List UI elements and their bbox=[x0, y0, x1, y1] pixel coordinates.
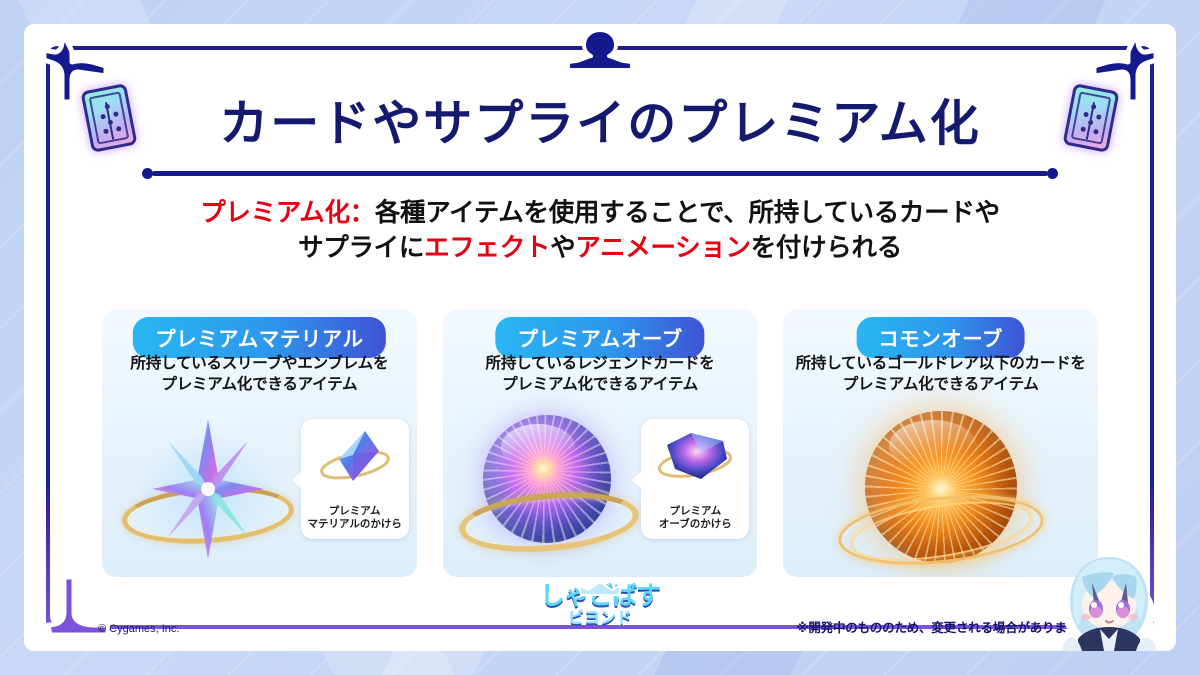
subtitle-line-2: サプライにエフェクトやアニメーションを付けられる bbox=[114, 231, 1086, 266]
card-desc-line1: 所持しているゴールドレア以下のカードを bbox=[791, 353, 1090, 374]
fragment-label: プレミアム マテリアルのかけら bbox=[303, 505, 407, 532]
top-finial-ornament bbox=[568, 28, 632, 72]
subtitle-line2-c: を付けられる bbox=[751, 233, 902, 263]
content-panel: カードやサプライのプレミアム化 プレミアム化：各種アイテムを使用することで、所持… bbox=[24, 24, 1176, 651]
fragment-artwork bbox=[641, 425, 749, 487]
frame-gradient-left bbox=[46, 479, 50, 629]
feature-card-premium-material: プレミアムマテリアル 所持しているスリーブやエンブレムを プレミアム化できるアイ… bbox=[102, 309, 417, 577]
subtitle-line2-b: や bbox=[550, 233, 575, 263]
subtitle-line1-rest: 各種アイテムを使用することで、所持しているカードや bbox=[375, 198, 1000, 228]
card-description: 所持しているレジェンドカードを プレミアム化できるアイテム bbox=[451, 353, 750, 395]
fragment-label-line2: マテリアルのかけら bbox=[303, 518, 407, 532]
common-orb-artwork bbox=[826, 405, 1056, 577]
card-badge: プレミアムオーブ bbox=[495, 317, 704, 358]
feature-card-list: プレミアムマテリアル 所持しているスリーブやエンブレムを プレミアム化できるアイ… bbox=[102, 309, 1098, 577]
card-desc-line1: 所持しているレジェンドカードを bbox=[451, 353, 750, 374]
card-description: 所持しているスリーブやエンブレムを プレミアム化できるアイテム bbox=[110, 353, 409, 395]
fragment-bubble: プレミアム オーブのかけら bbox=[641, 419, 749, 539]
card-desc-line2: プレミアム化できるアイテム bbox=[791, 374, 1090, 395]
feature-card-premium-orb: プレミアムオーブ 所持しているレジェンドカードを プレミアム化できるアイテム bbox=[443, 309, 758, 577]
fragment-artwork bbox=[301, 425, 409, 487]
premium-orb-artwork bbox=[459, 409, 639, 567]
eight-point-star-icon bbox=[152, 419, 264, 559]
disclaimer-text: ※開発中のもののため、変更される場合があります。 bbox=[796, 617, 1090, 636]
fragment-label-line1: プレミアム bbox=[643, 505, 747, 519]
crystal-shard-icon bbox=[301, 425, 409, 487]
subtitle-line-1: プレミアム化：各種アイテムを使用することで、所持しているカードや bbox=[114, 196, 1086, 231]
card-badge: コモンオーブ bbox=[856, 317, 1025, 358]
page-title: カードやサプライのプレミアム化 bbox=[24, 84, 1176, 155]
card-badge: プレミアムマテリアル bbox=[133, 317, 385, 358]
card-description: 所持しているゴールドレア以下のカードを プレミアム化できるアイテム bbox=[791, 353, 1090, 395]
divider-dot-right bbox=[1047, 168, 1058, 179]
fragment-label: プレミアム オーブのかけら bbox=[643, 505, 747, 532]
fragment-label-line1: プレミアム bbox=[303, 505, 407, 519]
fragment-bubble: プレミアム マテリアルのかけら bbox=[301, 419, 409, 539]
subtitle-lead: プレミアム化： bbox=[200, 198, 375, 228]
logo-line-2: ビヨンド bbox=[525, 609, 675, 627]
card-desc-line1: 所持しているスリーブやエンブレムを bbox=[110, 353, 409, 374]
subtitle-highlight-animation: アニメーション bbox=[575, 233, 750, 263]
orb-gloss bbox=[501, 424, 575, 470]
orb-shard-icon bbox=[641, 425, 749, 487]
subtitle-highlight-effect: エフェクト bbox=[424, 233, 550, 263]
divider-bar bbox=[152, 171, 1048, 176]
crown-icon bbox=[577, 581, 623, 597]
card-artwork-area: プレミアム オーブのかけら bbox=[443, 405, 758, 577]
card-desc-line2: プレミアム化できるアイテム bbox=[451, 374, 750, 395]
subtitle-text: プレミアム化：各種アイテムを使用することで、所持しているカードや サプライにエフ… bbox=[114, 196, 1086, 266]
slide-background: カードやサプライのプレミアム化 プレミアム化：各種アイテムを使用することで、所持… bbox=[0, 0, 1200, 675]
orb-gloss bbox=[889, 420, 977, 472]
copyright-text: © Cygames, Inc. bbox=[98, 623, 179, 635]
fragment-label-line2: オーブのかけら bbox=[643, 518, 747, 532]
chibi-character-avatar bbox=[1048, 547, 1170, 651]
subtitle-line2-a: サプライに bbox=[298, 233, 424, 263]
feature-card-common-orb: コモンオーブ 所持しているゴールドレア以下のカードを プレミアム化できるアイテム bbox=[783, 309, 1098, 577]
card-artwork-area: プレミアム マテリアルのかけら bbox=[102, 405, 417, 577]
card-desc-line2: プレミアム化できるアイテム bbox=[110, 374, 409, 395]
crystal-star-artwork bbox=[118, 415, 298, 565]
title-divider bbox=[142, 170, 1058, 177]
game-logo: しゃどばす ビヨンド bbox=[525, 583, 675, 645]
